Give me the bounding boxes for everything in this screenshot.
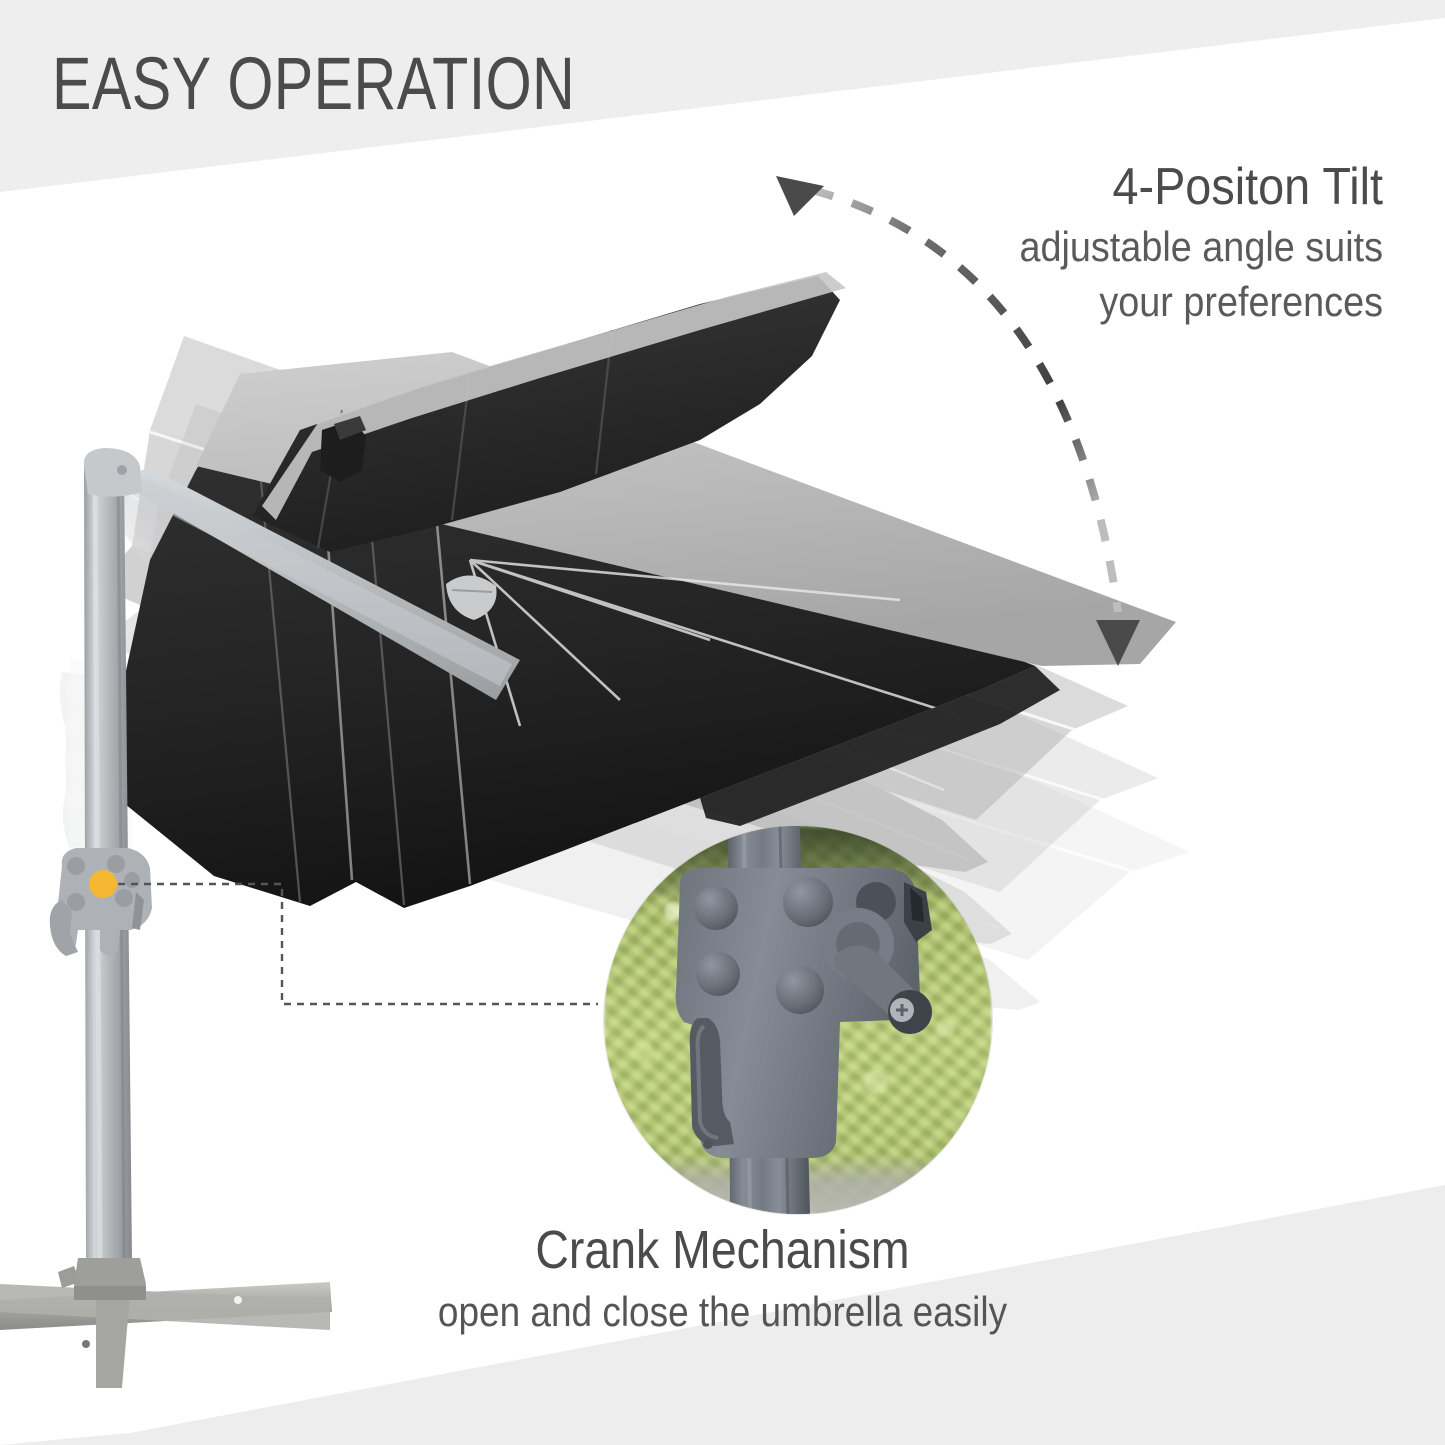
tilt-arc-end-arrow: [1096, 620, 1140, 666]
tilt-arc-start-arrow: [776, 176, 824, 216]
crank-caption-subtitle: open and close the umbrella easily: [87, 1289, 1359, 1335]
crank-leader-line: [118, 884, 598, 1004]
crank-caption: Crank Mechanism open and close the umbre…: [0, 1222, 1445, 1335]
infographic-canvas: EASY OPERATION: [0, 0, 1445, 1445]
crank-caption-title: Crank Mechanism: [101, 1222, 1344, 1279]
tilt-arc-dashed: [812, 190, 1118, 612]
